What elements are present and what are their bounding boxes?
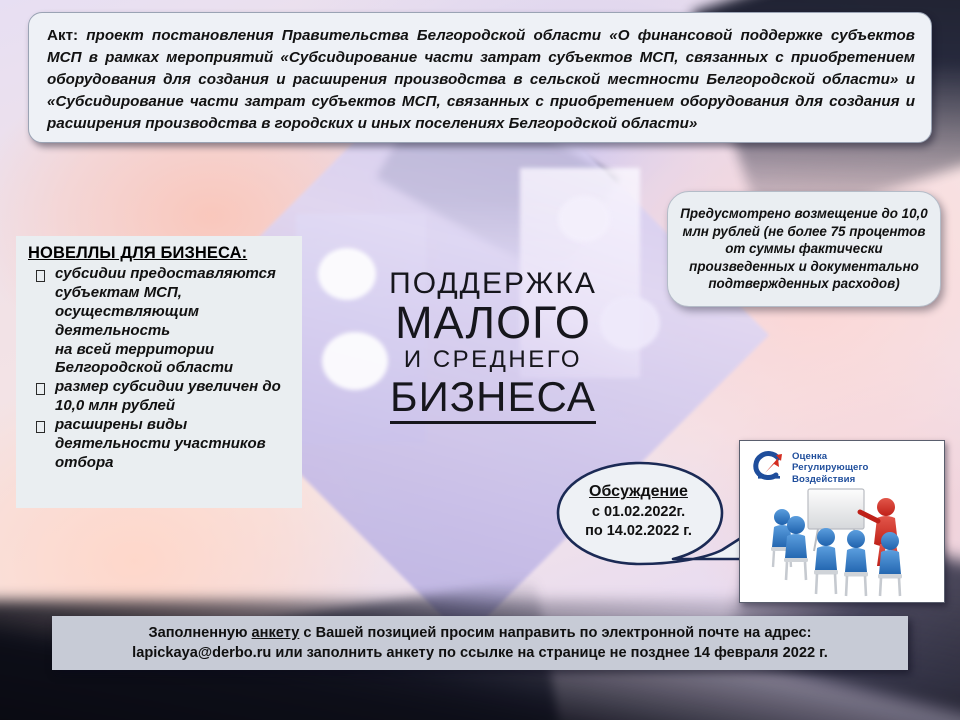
speech-bubble-shape-icon [556, 460, 756, 578]
orv-logo: Оценка Регулирующего Воздействия [752, 451, 868, 485]
puzzle-knob-d [558, 196, 610, 242]
orv-logo-text: Оценка Регулирующего Воздействия [792, 451, 868, 485]
act-lead-label: Акт: [47, 27, 78, 44]
orv-meeting-scene-illustration [740, 483, 945, 603]
contact-banner-text: Заполненную анкету с Вашей позицией прос… [132, 623, 828, 664]
novelty-item-text: расширены виды деятельности участников о… [55, 416, 292, 473]
novelty-item-text: субсидии предоставляются субъектам МСП, … [55, 265, 292, 378]
slide-canvas: ПОДДЕРЖКА МАЛОГО И СРЕДНЕГО БИЗНЕСА Акт:… [0, 0, 960, 720]
discussion-speech-bubble: Обсуждение с 01.02.2022г. по 14.02.2022 … [556, 460, 756, 578]
act-body-text: проект постановления Правительства Белго… [47, 27, 915, 132]
list-item: размер субсидии увеличен до 10,0 млн руб… [28, 378, 292, 416]
orv-logo-line-2: Регулирующего [792, 462, 868, 473]
orv-illustration-card: Оценка Регулирующего Воздействия [739, 440, 945, 603]
novelty-item-text: размер субсидии увеличен до 10,0 млн руб… [55, 378, 292, 416]
novelties-panel: НОВЕЛЛЫ ДЛЯ БИЗНЕСА: субсидии предоставл… [16, 236, 302, 508]
empty-box-bullet-icon [36, 383, 45, 395]
act-description-text: Акт: проект постановления Правительства … [47, 25, 915, 134]
empty-box-bullet-icon [36, 421, 45, 433]
orv-logo-line-1: Оценка [792, 451, 868, 462]
survey-link[interactable]: анкету [252, 625, 300, 641]
puzzle-knob-a [322, 332, 388, 390]
list-item: расширены виды деятельности участников о… [28, 416, 292, 473]
orv-logo-mark-icon [752, 451, 786, 481]
banner-line1-post: с Вашей позицией просим направить по эле… [299, 625, 811, 641]
novelties-title: НОВЕЛЛЫ ДЛЯ БИЗНЕСА: [28, 244, 292, 263]
puzzle-knob-b [318, 248, 376, 300]
reimbursement-callout: Предусмотрено возмещение до 10,0 млн руб… [667, 191, 941, 307]
banner-line1-pre: Заполненную [148, 625, 251, 641]
banner-line2: lapickaya@derbo.ru или заполнить анкету … [132, 645, 828, 661]
act-description-box: Акт: проект постановления Правительства … [28, 12, 932, 143]
novelties-list: субсидии предоставляются субъектам МСП, … [28, 265, 292, 473]
contact-banner: Заполненную анкету с Вашей позицией прос… [52, 616, 908, 670]
puzzle-knob-c [600, 296, 660, 350]
list-item: субсидии предоставляются субъектам МСП, … [28, 265, 292, 378]
empty-box-bullet-icon [36, 270, 45, 282]
reimbursement-text: Предусмотрено возмещение до 10,0 млн руб… [676, 205, 932, 292]
